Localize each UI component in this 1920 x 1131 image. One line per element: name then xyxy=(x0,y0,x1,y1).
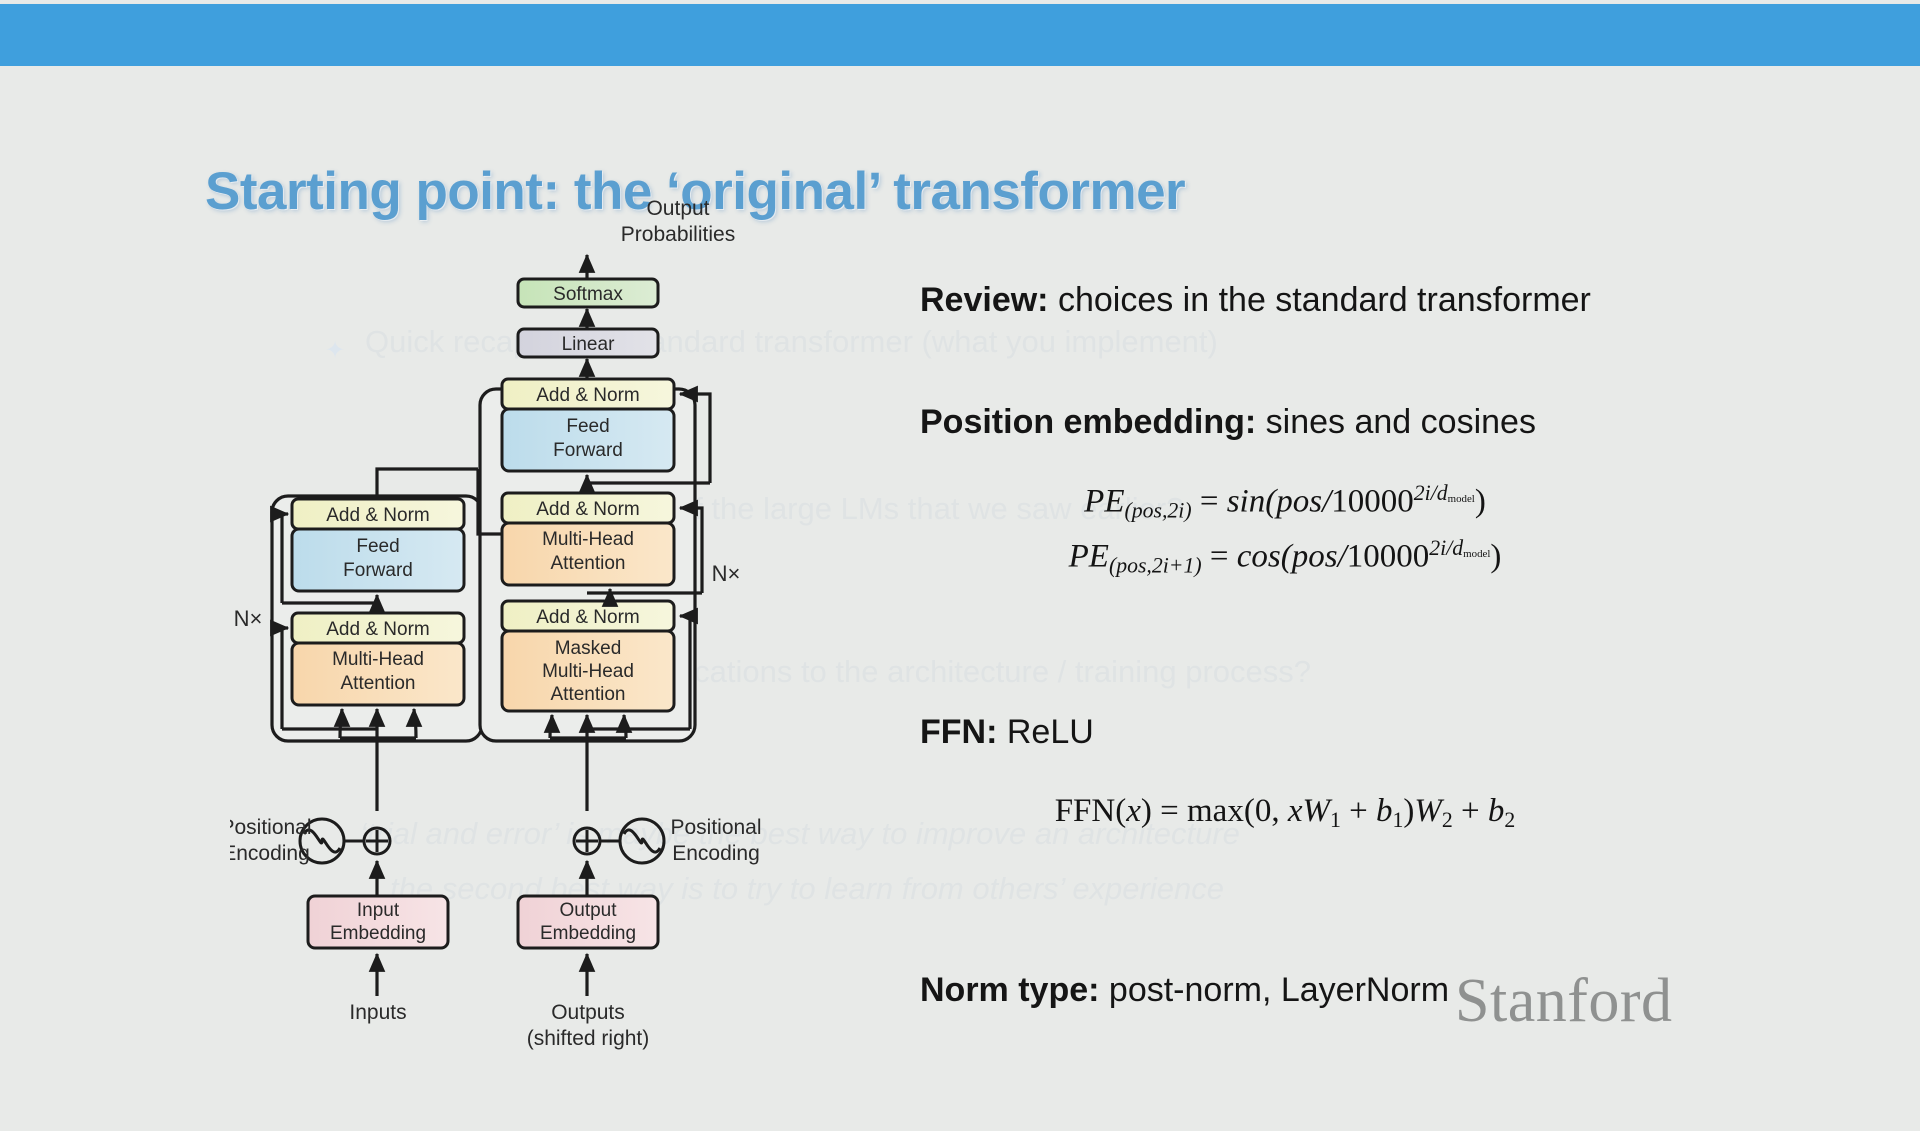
inputs-label: Inputs xyxy=(349,1001,406,1024)
pe-formula-odd: PE(pos,2i+1) = cos(pos/100002i/dmodel) xyxy=(940,536,1630,578)
ffn-open: ( xyxy=(1115,793,1126,829)
review-line: Review: choices in the standard transfor… xyxy=(920,281,1591,320)
encoder-ff-label-line2: Forward xyxy=(343,560,413,581)
encoder-ff-label-line1: Feed xyxy=(356,536,399,557)
pe-symbol-1: PE xyxy=(1084,483,1124,519)
ffn-sub-2a: 2 xyxy=(1442,808,1453,832)
pe-slash-1: / xyxy=(1322,483,1331,519)
ffn-zero: 0, xyxy=(1255,793,1280,829)
decoder-add-norm-label-3: Add & Norm xyxy=(536,385,639,406)
decoder-nx-label: N× xyxy=(712,561,741,586)
stanford-wordmark: Stanford xyxy=(1455,966,1673,1037)
encoder-positional-label-line1: Positional xyxy=(230,816,312,839)
pe-exp-d-2: d xyxy=(1452,536,1463,560)
pe-subscript-odd: (pos,2i+1) xyxy=(1109,553,1202,577)
pe-pos-1: pos xyxy=(1276,483,1322,519)
encoder-add-norm-label-2: Add & Norm xyxy=(326,505,429,526)
pe-close-1: ) xyxy=(1475,483,1486,519)
pe-symbol-2: PE xyxy=(1069,538,1109,574)
decoder-cross-mha-label-line1: Multi-Head xyxy=(542,529,634,550)
ffn-b1: b xyxy=(1376,793,1393,829)
ffn-sub-2b: 2 xyxy=(1504,808,1515,832)
output-probabilities-label: Output Probabilities xyxy=(588,196,768,248)
position-embedding-value: sines and cosines xyxy=(1266,403,1536,441)
decoder-masked-mha-label-line2: Attention xyxy=(551,684,626,705)
pe-close-2: ) xyxy=(1490,538,1501,574)
pe-eq-1: = xyxy=(1200,483,1219,519)
linear-label: Linear xyxy=(562,334,615,355)
ffn-plus-1: + xyxy=(1349,793,1368,829)
ffn-sub-1b: 1 xyxy=(1393,808,1404,832)
ffn-max: max xyxy=(1187,793,1244,829)
review-label: Review: xyxy=(920,281,1049,319)
ffn-label: FFN: xyxy=(920,713,997,751)
ffn-xw1: xW xyxy=(1288,793,1330,829)
ffn-formula: FFN(x) = max(0, xW1 + b1)W2 + b2 xyxy=(940,793,1630,833)
ffn-line: FFN: ReLU xyxy=(920,713,1094,752)
decoder-ff-label-line1: Feed xyxy=(566,416,609,437)
softmax-label: Softmax xyxy=(553,284,623,305)
input-embedding-label-line2: Embedding xyxy=(330,923,426,944)
pe-sin: sin xyxy=(1227,483,1266,519)
encoder-add-norm-label-1: Add & Norm xyxy=(326,619,429,640)
encoder-positional-label-line2: Encoding xyxy=(230,842,310,865)
decoder-add-norm-label-2: Add & Norm xyxy=(536,499,639,520)
norm-type-line: Norm type: post-norm, LayerNorm xyxy=(920,971,1449,1010)
ffn-w2: W xyxy=(1414,793,1442,829)
pe-open-2: ( xyxy=(1281,538,1292,574)
transformer-diagram: Multi-Head Attention Add & Norm Feed For… xyxy=(230,251,870,1131)
output-embedding-label-line2: Embedding xyxy=(540,923,636,944)
decoder-masked-mha-label-line1: Multi-Head xyxy=(542,661,634,682)
decoder-cross-mha-label-line2: Attention xyxy=(551,553,626,574)
ffn-sub-1a: 1 xyxy=(1330,808,1341,832)
encoder-mha-label-line1: Multi-Head xyxy=(332,649,424,670)
ffn-x: x xyxy=(1126,793,1141,829)
pe-open-1: ( xyxy=(1265,483,1276,519)
pe-exp-model-1: model xyxy=(1448,493,1475,505)
pe-base-1: 10000 xyxy=(1331,483,1414,519)
ffn-plus-2: + xyxy=(1461,793,1480,829)
pe-subscript-even: (pos,2i) xyxy=(1124,498,1191,522)
ffn-b2: b xyxy=(1488,793,1505,829)
norm-type-label: Norm type: xyxy=(920,971,1099,1009)
pe-exp-num-1: 2i xyxy=(1414,481,1431,505)
input-embedding-label-line1: Input xyxy=(357,900,400,921)
encoder-nx-label: N× xyxy=(234,606,263,631)
output-probabilities-line2: Probabilities xyxy=(588,222,768,248)
slide-stage: ✦ Quick recap of the standard transforme… xyxy=(0,66,1920,1080)
position-embedding-line: Position embedding: sines and cosines xyxy=(920,403,1536,442)
pe-exp-model-2: model xyxy=(1463,548,1490,560)
ffn-value: ReLU xyxy=(1007,713,1094,751)
pe-base-2: 10000 xyxy=(1347,538,1430,574)
ffn-close-2: ) xyxy=(1403,793,1414,829)
browser-top-bar xyxy=(0,4,1920,66)
shifted-right-label: (shifted right) xyxy=(527,1027,650,1050)
decoder-masked-label: Masked xyxy=(555,638,622,659)
decoder-ff-label-line2: Forward xyxy=(553,440,623,461)
ffn-eq: = xyxy=(1160,793,1179,829)
pe-exp-num-2: 2i xyxy=(1429,536,1446,560)
pe-slash-2: / xyxy=(1338,538,1347,574)
review-value: choices in the standard transformer xyxy=(1058,281,1591,319)
output-probabilities-line1: Output xyxy=(588,196,768,222)
decoder-positional-label-line1: Positional xyxy=(670,816,761,839)
pe-cos: cos xyxy=(1237,538,1281,574)
pe-formula-even: PE(pos,2i) = sin(pos/100002i/dmodel) xyxy=(940,481,1630,523)
ffn-open-2: ( xyxy=(1244,793,1255,829)
ffn-name: FFN xyxy=(1055,793,1116,829)
pe-pos-2: pos xyxy=(1292,538,1338,574)
decoder-add-norm-label-1: Add & Norm xyxy=(536,607,639,628)
ffn-close: ) xyxy=(1141,793,1152,829)
encoder-mha-label-line2: Attention xyxy=(341,673,416,694)
position-embedding-label: Position embedding: xyxy=(920,403,1256,441)
pe-eq-2: = xyxy=(1210,538,1229,574)
pe-exp-d-1: d xyxy=(1437,481,1448,505)
output-embedding-label-line1: Output xyxy=(559,900,617,921)
norm-type-value: post-norm, LayerNorm xyxy=(1109,971,1449,1009)
decoder-positional-label-line2: Encoding xyxy=(672,842,760,865)
outputs-label: Outputs xyxy=(551,1001,625,1024)
